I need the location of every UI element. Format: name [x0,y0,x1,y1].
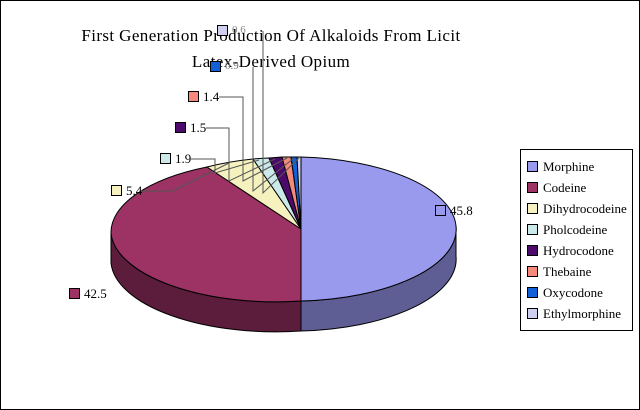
value-text-ethylmorphine: 0.6 [232,24,246,37]
value-swatch-ethylmorphine [217,25,228,36]
legend-item-thebaine[interactable]: Thebaine [527,261,627,282]
value-text-morphine: 45.8 [450,204,473,217]
value-swatch-morphine [435,205,446,216]
legend-item-ethylmorphine[interactable]: Ethylmorphine [527,303,627,324]
value-text-pholcodeine: 1.9 [175,152,191,165]
legend-label-hydrocodone: Hydrocodone [543,244,614,257]
value-label-ethylmorphine: 0.6 [217,24,246,37]
value-label-oxycodone: 0.9 [210,60,239,73]
value-label-dihydrocodeine: 5.4 [111,184,142,197]
value-text-oxycodone: 0.9 [225,60,239,73]
value-swatch-dihydrocodeine [111,185,122,196]
value-label-hydrocodone: 1.5 [175,121,206,134]
legend-label-dihydrocodeine: Dihydrocodeine [543,202,627,215]
chart-legend: Morphine Codeine Dihydrocodeine Pholcode… [520,149,633,331]
legend-swatch-oxycodone [527,287,538,298]
legend-item-morphine[interactable]: Morphine [527,156,627,177]
value-text-codeine: 42.5 [84,287,107,300]
value-label-thebaine: 1.4 [188,90,219,103]
legend-swatch-pholcodeine [527,224,538,235]
legend-item-dihydrocodeine[interactable]: Dihydrocodeine [527,198,627,219]
pie-chart: 45.8 42.5 5.4 1.9 1.5 1.4 0.9 0.6 [1,1,521,409]
value-text-hydrocodone: 1.5 [190,121,206,134]
chart-frame: First Generation Production Of Alkaloids… [0,0,640,410]
value-label-pholcodeine: 1.9 [160,152,191,165]
legend-item-oxycodone[interactable]: Oxycodone [527,282,627,303]
legend-label-codeine: Codeine [543,181,586,194]
value-label-morphine: 45.8 [435,204,473,217]
legend-label-ethylmorphine: Ethylmorphine [543,307,621,320]
value-label-codeine: 42.5 [69,287,107,300]
legend-swatch-hydrocodone [527,245,538,256]
legend-item-pholcodeine[interactable]: Pholcodeine [527,219,627,240]
value-text-thebaine: 1.4 [203,90,219,103]
legend-item-codeine[interactable]: Codeine [527,177,627,198]
legend-swatch-morphine [527,161,538,172]
value-swatch-oxycodone [210,61,221,72]
value-swatch-thebaine [188,91,199,102]
value-swatch-pholcodeine [160,153,171,164]
legend-label-thebaine: Thebaine [543,265,591,278]
value-swatch-codeine [69,288,80,299]
legend-label-oxycodone: Oxycodone [543,286,603,299]
legend-swatch-ethylmorphine [527,308,538,319]
value-text-dihydrocodeine: 5.4 [126,184,142,197]
legend-swatch-thebaine [527,266,538,277]
legend-label-morphine: Morphine [543,160,594,173]
legend-item-hydrocodone[interactable]: Hydrocodone [527,240,627,261]
value-swatch-hydrocodone [175,122,186,133]
legend-swatch-dihydrocodeine [527,203,538,214]
legend-label-pholcodeine: Pholcodeine [543,223,607,236]
legend-swatch-codeine [527,182,538,193]
